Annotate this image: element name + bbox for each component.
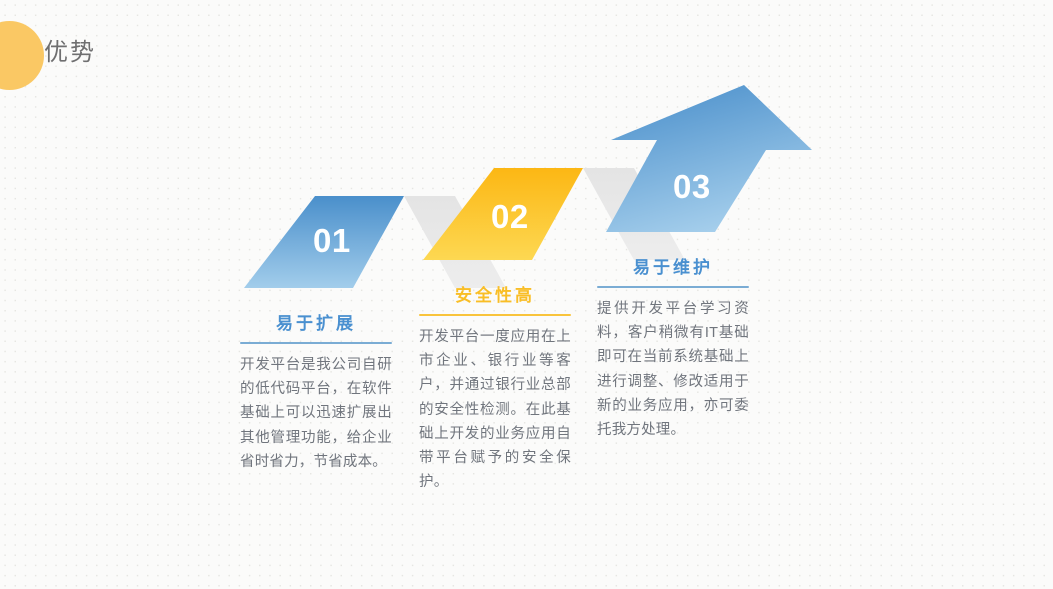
step-heading-01: 易于扩展 xyxy=(240,313,392,335)
page-title: 优势 xyxy=(44,38,96,68)
step-number-02: 02 xyxy=(491,200,529,233)
step-rule-02 xyxy=(419,314,571,316)
step-column-03: 易于维护 提供开发平台学习资料，客户稍微有IT基础即可在当前系统基础上进行调整、… xyxy=(597,257,749,442)
step-body-03: 提供开发平台学习资料，客户稍微有IT基础即可在当前系统基础上进行调整、修改适用于… xyxy=(597,297,749,442)
step-heading-02: 安全性高 xyxy=(419,285,571,307)
decorative-circle xyxy=(0,21,44,90)
slide-canvas: 优势 xyxy=(0,0,1053,589)
step-column-02: 安全性高 开发平台一度应用在上市企业、银行业等客户，并通过银行业总部的安全性检测… xyxy=(419,285,571,494)
step-rule-03 xyxy=(597,286,749,288)
step-heading-03: 易于维护 xyxy=(597,257,749,279)
step-number-03: 03 xyxy=(673,170,711,203)
step-number-01: 01 xyxy=(313,224,351,257)
step-body-02: 开发平台一度应用在上市企业、银行业等客户，并通过银行业总部的安全性检测。在此基础… xyxy=(419,325,571,494)
connector-2-3 xyxy=(583,168,685,260)
step-column-01: 易于扩展 开发平台是我公司自研的低代码平台，在软件基础上可以迅速扩展出其他管理功… xyxy=(240,313,392,474)
step-rule-01 xyxy=(240,342,392,344)
step-shape-03 xyxy=(606,85,812,232)
step-body-01: 开发平台是我公司自研的低代码平台，在软件基础上可以迅速扩展出其他管理功能，给企业… xyxy=(240,353,392,474)
